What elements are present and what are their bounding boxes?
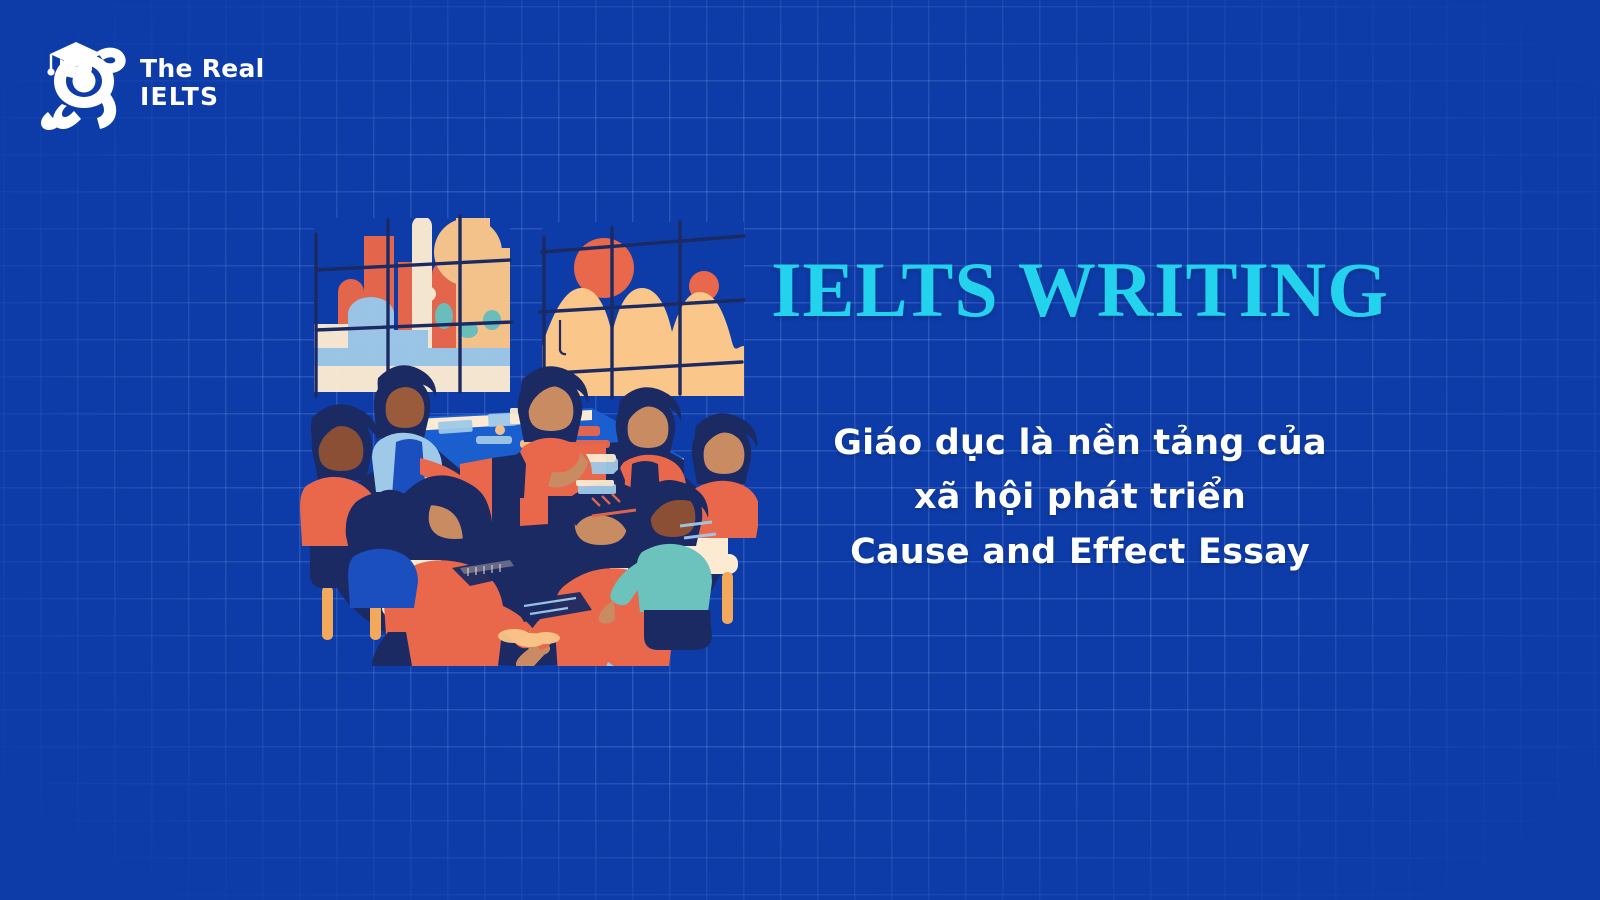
hero-subtitle-line-3: Cause and Effect Essay (760, 525, 1400, 580)
hero-subtitle-line-2: xã hội phát triển (760, 470, 1400, 525)
brand-logo[interactable]: The Real IELTS (38, 34, 265, 132)
hero-text-block: IELTS WRITING Giáo dục là nền tảng của x… (760, 250, 1400, 580)
page-title: IELTS WRITING (760, 250, 1400, 330)
classroom-group-discussion-illustration (292, 196, 758, 666)
hero-subtitle-line-1: Giáo dục là nền tảng của (760, 416, 1400, 471)
brand-logo-text: The Real IELTS (140, 55, 265, 111)
brand-logo-line2: IELTS (140, 83, 265, 111)
brand-logo-line1: The Real (140, 55, 265, 83)
hero-subtitle: Giáo dục là nền tảng của xã hội phát tri… (760, 416, 1400, 581)
graduation-cap-owl-logo-icon (38, 34, 130, 132)
poster-canvas: The Real IELTS (0, 0, 1600, 900)
